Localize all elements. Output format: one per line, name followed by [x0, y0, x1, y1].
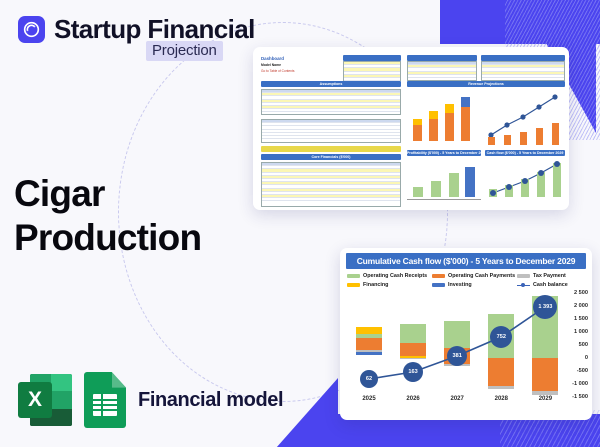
dashboard-minichart-3 [407, 159, 481, 207]
swirl-e-logo-icon [18, 16, 45, 43]
dashboard-panel-top-3 [481, 55, 565, 81]
legend-item-tax-payment: Tax Payment [517, 273, 585, 279]
data-label-2025: 62 [360, 370, 378, 388]
y-tick: 2 000 [574, 303, 588, 309]
legend-label: Investing [448, 282, 472, 288]
chart-plot-area: 2 500 2 000 1 500 1 000 500 0 -500 -1 00… [340, 290, 592, 408]
legend-item-operating-cash-receipts: Operating Cash Receipts [347, 273, 432, 279]
y-tick: 500 [579, 342, 588, 348]
dashboard-table-left-1 [261, 89, 401, 115]
page-title-line-1: Cigar [14, 172, 201, 216]
dashboard-band-cashflow: Cash flow ($'000) - 5 Years to December … [485, 150, 565, 156]
x-tick: 2026 [406, 396, 419, 402]
legend-item-operating-cash-payments: Operating Cash Payments [432, 273, 517, 279]
y-tick: 2 500 [574, 290, 588, 296]
x-tick: 2025 [362, 396, 375, 402]
legend-item-cash-balance: Cash balance [517, 282, 585, 288]
decorative-bottom-left-triangle [276, 378, 338, 447]
legend-swatch [432, 274, 445, 278]
y-tick: 0 [585, 355, 588, 361]
legend-item-financing: Financing [347, 282, 432, 288]
legend-label: Tax Payment [533, 273, 566, 279]
dashboard-model-name: Model Name [261, 63, 281, 67]
legend-item-investing: Investing [432, 282, 517, 288]
chart-cash-balance-line: 62 163 381 752 1 393 [348, 290, 558, 396]
format-badges: X Financial model [18, 372, 283, 428]
legend-label: Cash balance [533, 282, 568, 288]
dashboard-preview-content: Dashboard Model Name Go to Table of Cont… [257, 51, 565, 206]
dashboard-table-left-2 [261, 119, 401, 143]
dashboard-minichart-4 [485, 159, 565, 207]
y-tick: 1 500 [574, 316, 588, 322]
dashboard-band-revenue: Revenue Projections [407, 81, 565, 87]
legend-label: Operating Cash Receipts [363, 273, 427, 279]
page-title-line-2: Production [14, 216, 201, 260]
microsoft-excel-icon: X [18, 372, 72, 428]
x-tick: 2028 [495, 396, 508, 402]
y-tick: -1 500 [572, 394, 588, 400]
page-title: Cigar Production [14, 172, 201, 260]
legend-swatch [517, 274, 530, 278]
excel-letter: X [18, 382, 52, 418]
legend-label: Financing [363, 282, 388, 288]
slide-canvas: Startup Financial Projection Cigar Produ… [0, 0, 600, 447]
chart-x-axis: 2025 2026 2027 2028 2029 [348, 396, 558, 408]
legend-swatch [347, 283, 360, 287]
legend-swatch [347, 274, 360, 278]
legend-label: Operating Cash Payments [448, 273, 515, 279]
dashboard-toc-link[interactable]: Go to Table of Contents [261, 69, 294, 73]
dashboard-band-assumptions: Assumptions [261, 81, 401, 87]
data-label-2029: 1 393 [533, 295, 557, 319]
dashboard-band-profitability: Profitability ($'000) - 5 Years to Decem… [407, 150, 481, 156]
format-label: Financial model [138, 389, 283, 412]
dashboard-panel-top-1 [343, 55, 401, 81]
cumulative-cash-flow-card[interactable]: Cumulative Cash flow ($'000) - 5 Years t… [340, 248, 592, 420]
chart-title: Cumulative Cash flow ($'000) - 5 Years t… [346, 253, 586, 269]
legend-line-marker [517, 283, 530, 287]
x-tick: 2029 [539, 396, 552, 402]
chart-y-axis: 2 500 2 000 1 500 1 000 500 0 -500 -1 00… [560, 290, 590, 396]
legend-swatch [432, 283, 445, 287]
dashboard-panel-top-2 [407, 55, 477, 81]
dashboard-preview[interactable]: Dashboard Model Name Go to Table of Cont… [253, 47, 569, 210]
y-tick: 1 000 [574, 329, 588, 335]
dashboard-minichart-2 [485, 91, 565, 149]
data-label-2028: 752 [490, 326, 512, 348]
y-tick: -500 [577, 368, 588, 374]
data-label-2026: 163 [403, 362, 423, 382]
brand-subtitle-badge: Projection [146, 41, 223, 61]
dashboard-minichart-1 [407, 91, 481, 149]
dashboard-band-core-financials: Core Financials ($'000) [261, 154, 401, 160]
x-tick: 2027 [451, 396, 464, 402]
y-tick: -1 000 [572, 381, 588, 387]
dashboard-heading: Dashboard [261, 56, 284, 61]
data-label-2027: 381 [447, 346, 467, 366]
chart-legend: Operating Cash Receipts Operating Cash P… [347, 273, 585, 288]
dashboard-table-core-financials [261, 162, 401, 207]
google-sheets-icon [84, 372, 126, 428]
dashboard-band-yellow [261, 146, 401, 152]
decorative-top-right-block [440, 0, 600, 44]
